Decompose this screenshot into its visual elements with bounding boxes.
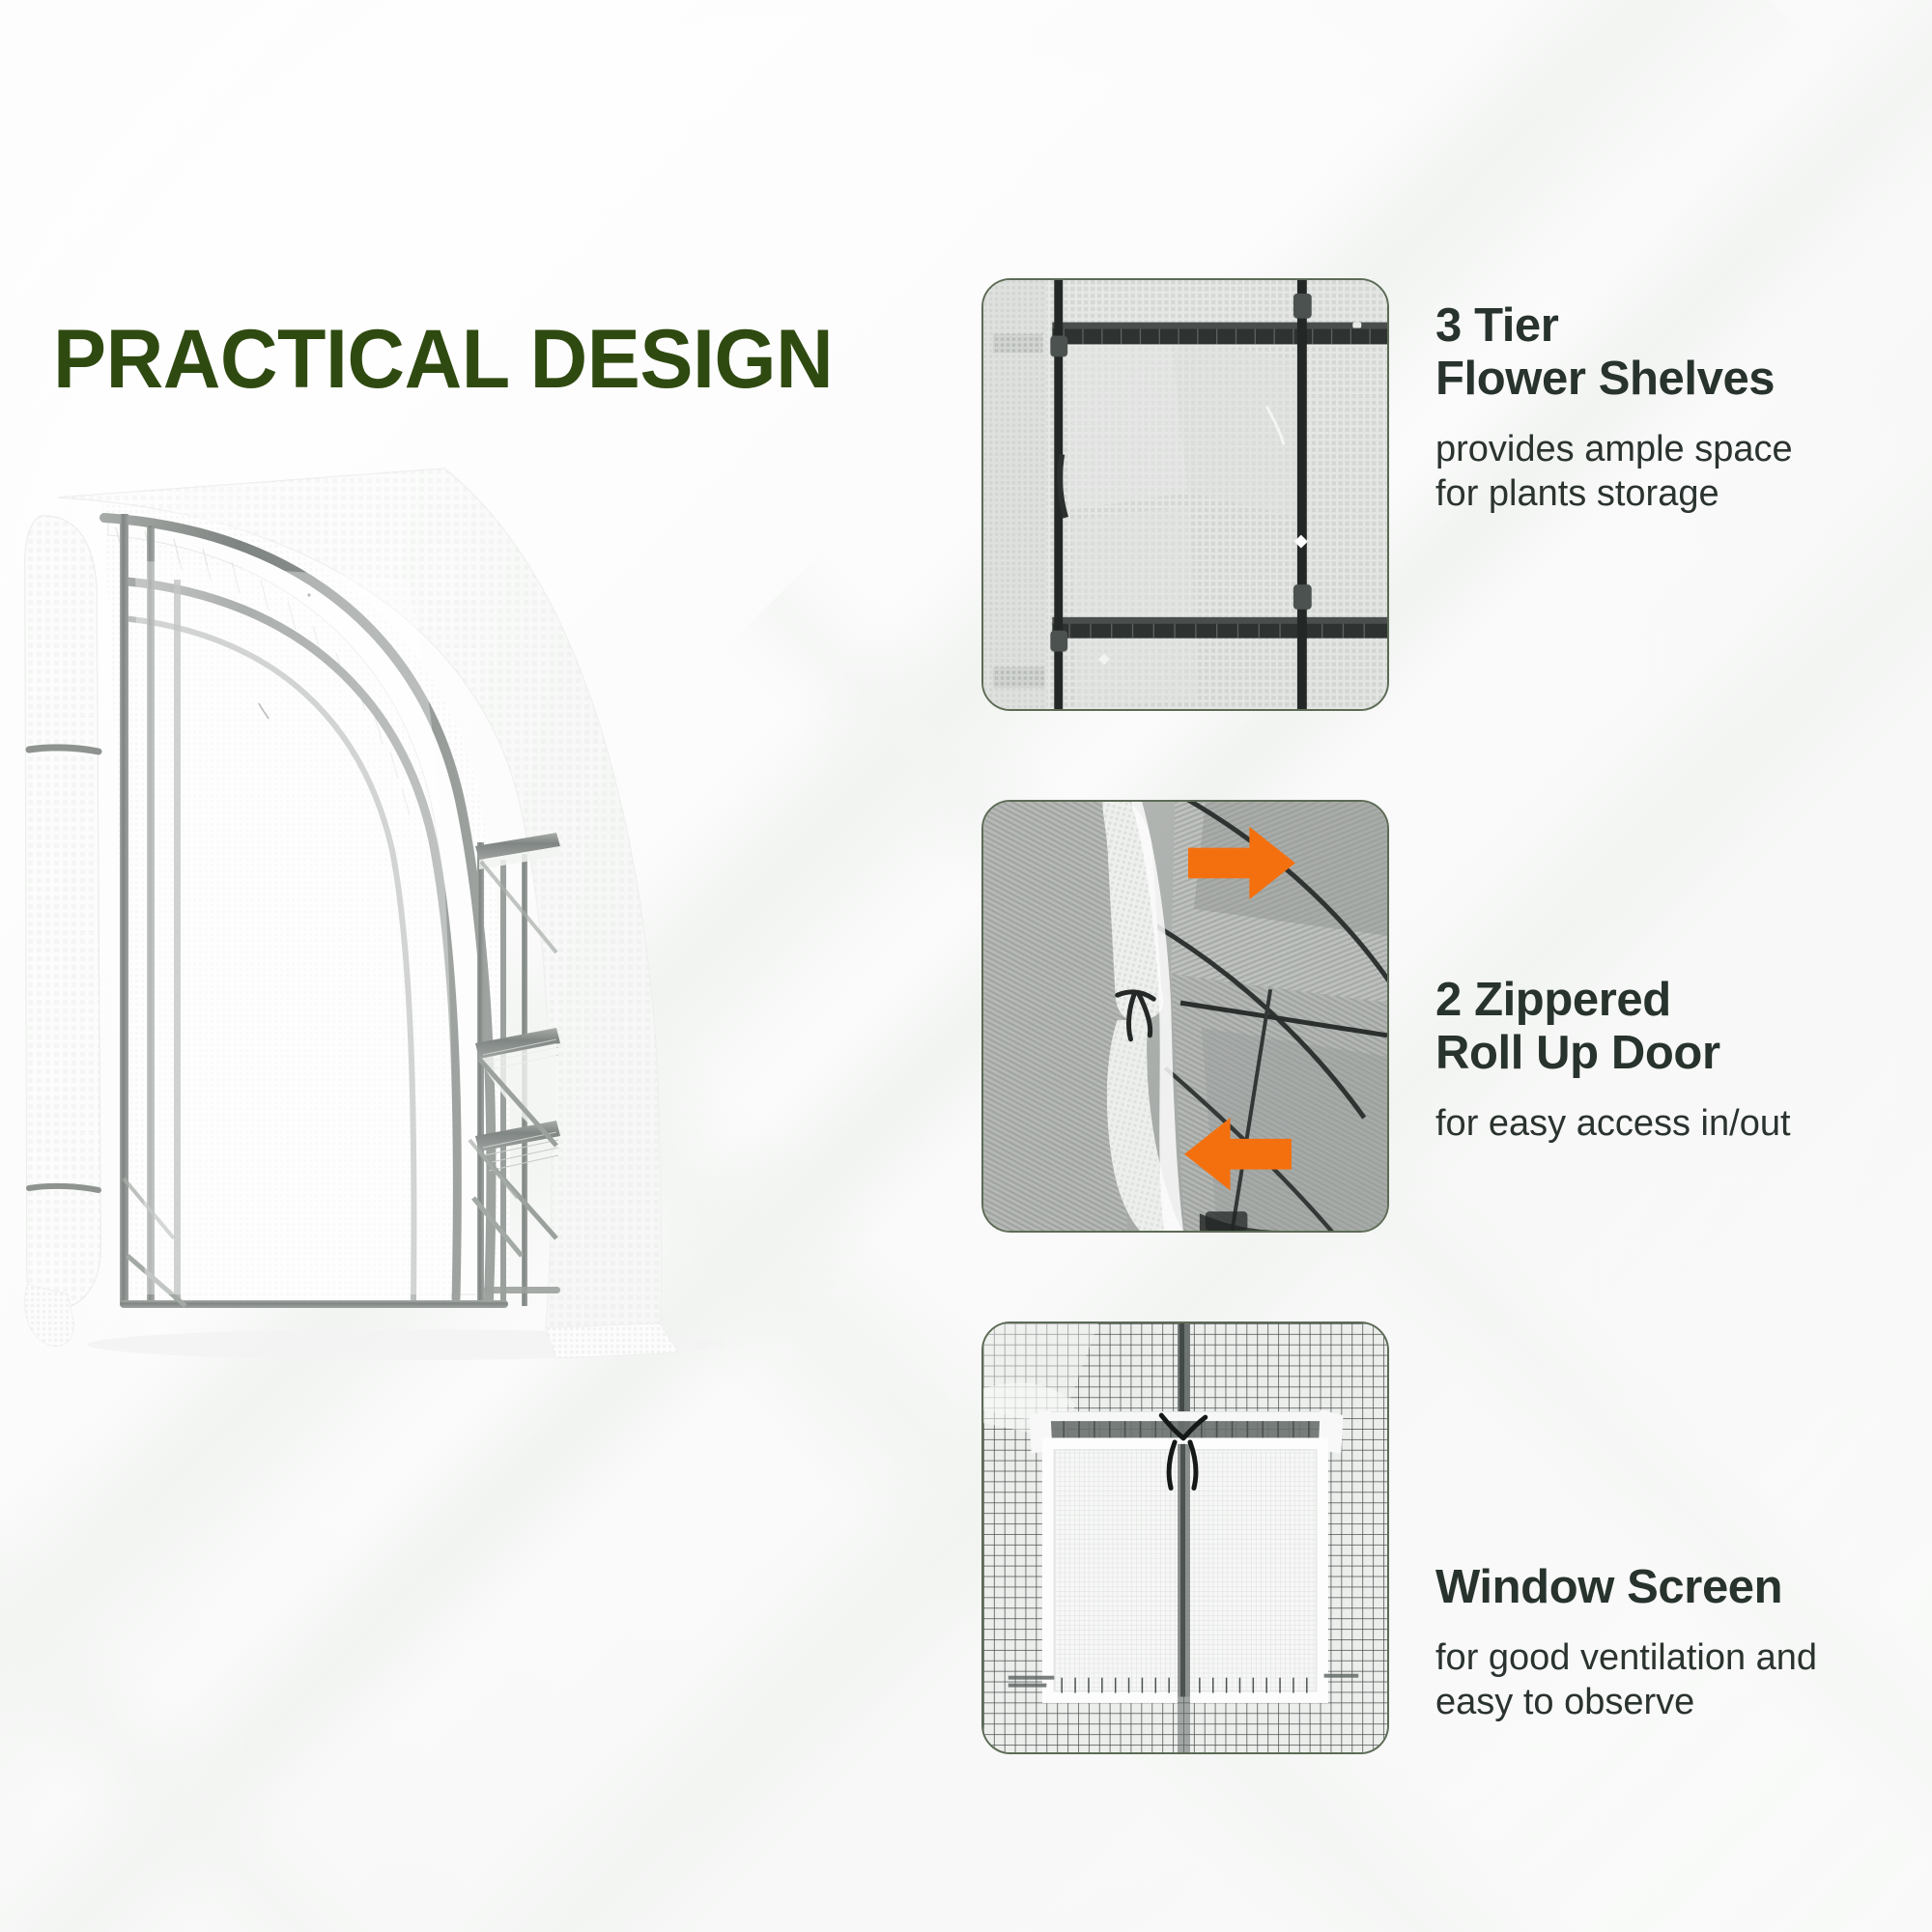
feature-subtitle: provides ample space for plants storage [1435,427,1909,517]
feature-title: 2 Zippered Roll Up Door [1435,974,1909,1080]
feature-row-window-screen: Window Screen for good ventilation and e… [981,1321,1909,1754]
feature-caption: 2 Zippered Roll Up Door for easy access … [1435,974,1909,1146]
feature-row-two-zippered-roll-up-door: 2 Zippered Roll Up Door for easy access … [981,800,1909,1233]
roll-up-door-photo[interactable] [981,800,1389,1233]
feature-caption: 3 Tier Flower Shelves provides ample spa… [1435,299,1909,516]
page-title: PRACTICAL DESIGN [53,318,833,401]
window-screen-photo[interactable] [981,1321,1389,1754]
feature-title: Window Screen [1435,1561,1909,1614]
shelves-photo[interactable] [981,278,1389,711]
infographic-canvas: PRACTICAL DESIGN [0,0,1932,1932]
feature-subtitle: for good ventilation and easy to observe [1435,1635,1909,1725]
feature-row-three-tier-flower-shelves: 3 Tier Flower Shelves provides ample spa… [981,278,1909,711]
feature-title: 3 Tier Flower Shelves [1435,299,1909,406]
feature-caption: Window Screen for good ventilation and e… [1435,1561,1909,1725]
product-illustration [19,522,782,1372]
feature-subtitle: for easy access in/out [1435,1101,1909,1146]
